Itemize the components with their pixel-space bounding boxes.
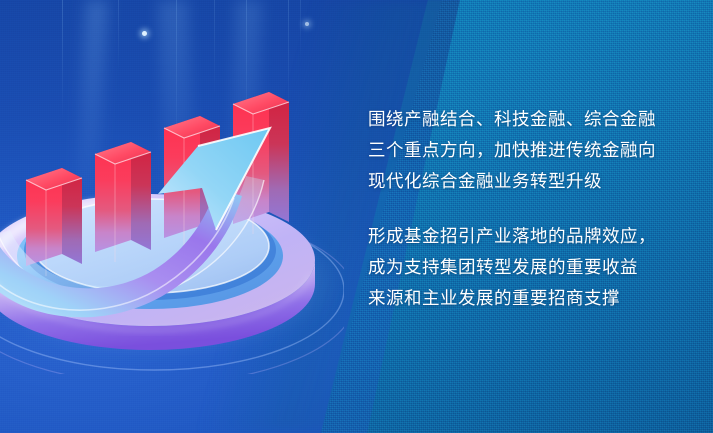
paragraph-1-line-3: 现代化综合金融业务转型升级	[368, 166, 698, 197]
paragraph-2: 形成基金招引产业落地的品牌效应， 成为支持集团转型发展的重要收益 来源和主业发展…	[368, 221, 698, 314]
paragraph-2-line-2: 成为支持集团转型发展的重要收益	[368, 252, 698, 283]
particle-dot	[305, 22, 309, 26]
slide-canvas: 围绕产融结合、科技金融、综合金融 三个重点方向，加快推进传统金融向 现代化综合金…	[0, 0, 713, 433]
paragraph-1: 围绕产融结合、科技金融、综合金融 三个重点方向，加快推进传统金融向 现代化综合金…	[368, 104, 698, 197]
paragraph-2-line-3: 来源和主业发展的重要招商支撑	[368, 283, 698, 314]
paragraph-1-line-1: 围绕产融结合、科技金融、综合金融	[368, 104, 698, 135]
light-streak	[300, 0, 301, 58]
growth-chart-illustration	[0, 84, 344, 374]
paragraph-2-line-1: 形成基金招引产业落地的品牌效应，	[368, 221, 698, 252]
particle-dot	[142, 31, 147, 36]
light-streak	[214, 0, 215, 95]
text-content: 围绕产融结合、科技金融、综合金融 三个重点方向，加快推进传统金融向 现代化综合金…	[368, 104, 698, 314]
light-streak	[118, 0, 119, 70]
paragraph-1-line-2: 三个重点方向，加快推进传统金融向	[368, 135, 698, 166]
